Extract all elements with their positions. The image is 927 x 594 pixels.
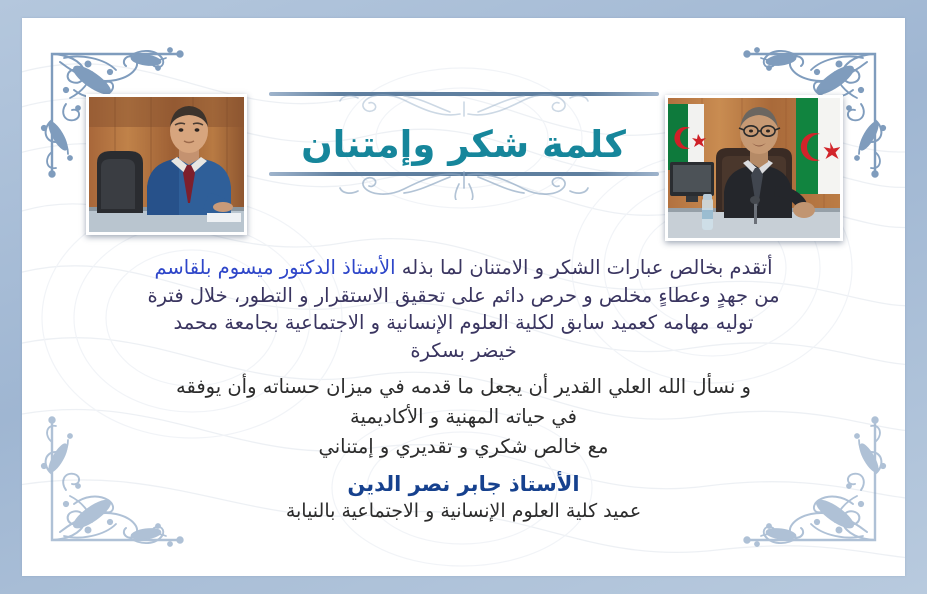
poster-card: كلمة شكر وإمتنان	[22, 18, 905, 576]
paragraph-line-4: خيضر بسكرة	[64, 337, 863, 365]
paragraph-line-3: توليه مهامه كعميد سابق لكلية العلوم الإن…	[64, 309, 863, 337]
closing-line: مع خالص شكري و تقديري و إمتناني	[64, 433, 863, 461]
title-flourish-bottom-icon	[254, 176, 674, 196]
title-flourish-top-icon	[254, 96, 674, 116]
honoree-name: الأستاذ الدكتور ميسوم بلقاسم	[154, 256, 395, 279]
paragraph-line-2: من جهدٍ وعطاءٍ مخلص و حرص دائم على تحقيق…	[64, 282, 863, 310]
photo-left	[86, 94, 247, 235]
dua-line-2: في حياته المهنية و الأكاديمية	[64, 403, 863, 431]
signature-name: الأستاذ جابر نصر الدين	[64, 471, 863, 498]
body-text: أتقدم بخالص عبارات الشكر و الامتنان لما …	[64, 254, 863, 524]
paragraph-line-1: أتقدم بخالص عبارات الشكر و الامتنان لما …	[64, 254, 863, 282]
photo-right	[665, 95, 843, 241]
paragraph-line-1-text: أتقدم بخالص عبارات الشكر و الامتنان لما …	[396, 256, 773, 279]
poster-root: كلمة شكر وإمتنان	[0, 0, 927, 594]
signature-role: عميد كلية العلوم الإنسانية و الاجتماعية …	[64, 499, 863, 525]
dua-line-1: و نسأل الله العلي القدير أن يجعل ما قدمه…	[64, 373, 863, 401]
